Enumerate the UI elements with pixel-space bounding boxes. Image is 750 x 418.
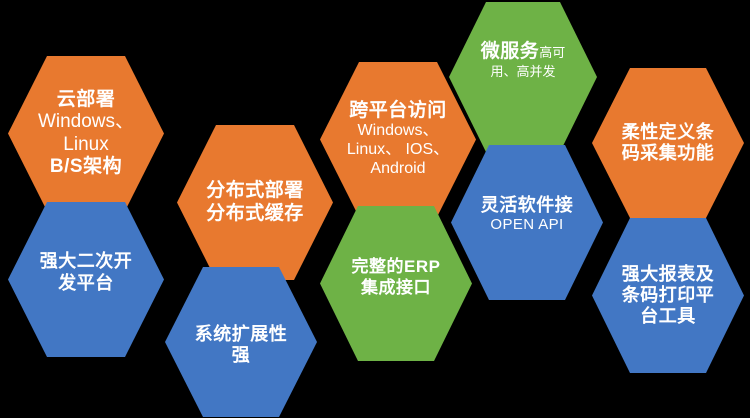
hex-flexible-barcode-line-1: 柔性定义条 — [606, 122, 730, 143]
hex-microservice-inline-sub: 高可 — [539, 45, 565, 60]
hex-report-barcode-print-content: 强大报表及 条码打印平 台工具 — [592, 264, 744, 328]
hex-secondary-development-content: 强大二次开 发平台 — [8, 251, 164, 293]
hex-open-api-title: 灵活软件接 — [465, 195, 589, 216]
hex-report-barcode-print-line-2: 条码打印平 — [606, 285, 730, 306]
hex-erp-integration-line-1: 完整的ERP — [334, 257, 458, 277]
hex-distributed-deploy-line-2: 分布式缓存 — [191, 203, 319, 225]
hex-open-api[interactable]: 灵活软件接 OPEN API — [451, 145, 603, 300]
hex-erp-integration[interactable]: 完整的ERP 集成接口 — [320, 206, 472, 361]
hex-cross-platform-sub-2: Linux、 IOS、 — [334, 141, 462, 160]
hex-scalability-content: 系统扩展性 强 — [165, 324, 317, 366]
hex-cloud-deploy-title: 云部署 — [22, 89, 150, 111]
hex-distributed-deploy-line-1: 分布式部署 — [191, 180, 319, 202]
hex-distributed-deploy-content: 分布式部署 分布式缓存 — [177, 180, 333, 225]
hex-report-barcode-print-line-1: 强大报表及 — [606, 264, 730, 285]
hex-cloud-deploy-content: 云部署 Windows、 Linux B/S架构 — [8, 89, 164, 179]
hex-secondary-development-line-1: 强大二次开 — [22, 251, 150, 272]
hex-open-api-content: 灵活软件接 OPEN API — [451, 195, 603, 234]
hex-cross-platform[interactable]: 跨平台访问 Windows、 Linux、 IOS、 Android — [320, 62, 476, 217]
hex-cross-platform-title: 跨平台访问 — [334, 100, 462, 122]
hex-scalability-line-1: 系统扩展性 — [179, 324, 303, 345]
hex-flexible-barcode-line-2: 码采集功能 — [606, 143, 730, 164]
hex-report-barcode-print[interactable]: 强大报表及 条码打印平 台工具 — [592, 218, 744, 373]
hex-erp-integration-content: 完整的ERP 集成接口 — [320, 257, 472, 297]
hex-cloud-deploy-sub-2: Linux — [22, 134, 150, 156]
hex-cloud-deploy-tail: B/S架构 — [22, 156, 150, 178]
hex-cross-platform-sub-3: Android — [334, 160, 462, 179]
hex-microservice-content: 微服务高可 用、高并发 — [449, 41, 597, 79]
hex-cloud-deploy-sub-1: Windows、 — [22, 111, 150, 133]
hex-report-barcode-print-line-3: 台工具 — [606, 306, 730, 327]
hexagon-diagram-canvas: 云部署 Windows、 Linux B/S架构 分布式部署 分布式缓存 跨平台… — [0, 0, 750, 418]
hex-cloud-deploy[interactable]: 云部署 Windows、 Linux B/S架构 — [8, 56, 164, 211]
hex-cross-platform-sub-1: Windows、 — [334, 122, 462, 141]
hex-secondary-development[interactable]: 强大二次开 发平台 — [8, 202, 164, 357]
hex-erp-integration-line-2: 集成接口 — [334, 278, 458, 298]
hex-open-api-sub: OPEN API — [465, 216, 589, 234]
hex-scalability-line-2: 强 — [179, 345, 303, 366]
hex-flexible-barcode-content: 柔性定义条 码采集功能 — [592, 122, 744, 164]
hex-scalability[interactable]: 系统扩展性 强 — [165, 267, 317, 417]
hex-microservice[interactable]: 微服务高可 用、高并发 — [449, 2, 597, 152]
hex-distributed-deploy[interactable]: 分布式部署 分布式缓存 — [177, 125, 333, 280]
hex-microservice-sub-tail: 用、高并发 — [463, 64, 583, 79]
hex-microservice-title: 微服务 — [481, 41, 540, 62]
hex-flexible-barcode[interactable]: 柔性定义条 码采集功能 — [592, 68, 744, 218]
hex-microservice-title-row: 微服务高可 — [463, 41, 583, 63]
hex-secondary-development-line-2: 发平台 — [22, 273, 150, 294]
hex-cross-platform-content: 跨平台访问 Windows、 Linux、 IOS、 Android — [320, 100, 476, 179]
